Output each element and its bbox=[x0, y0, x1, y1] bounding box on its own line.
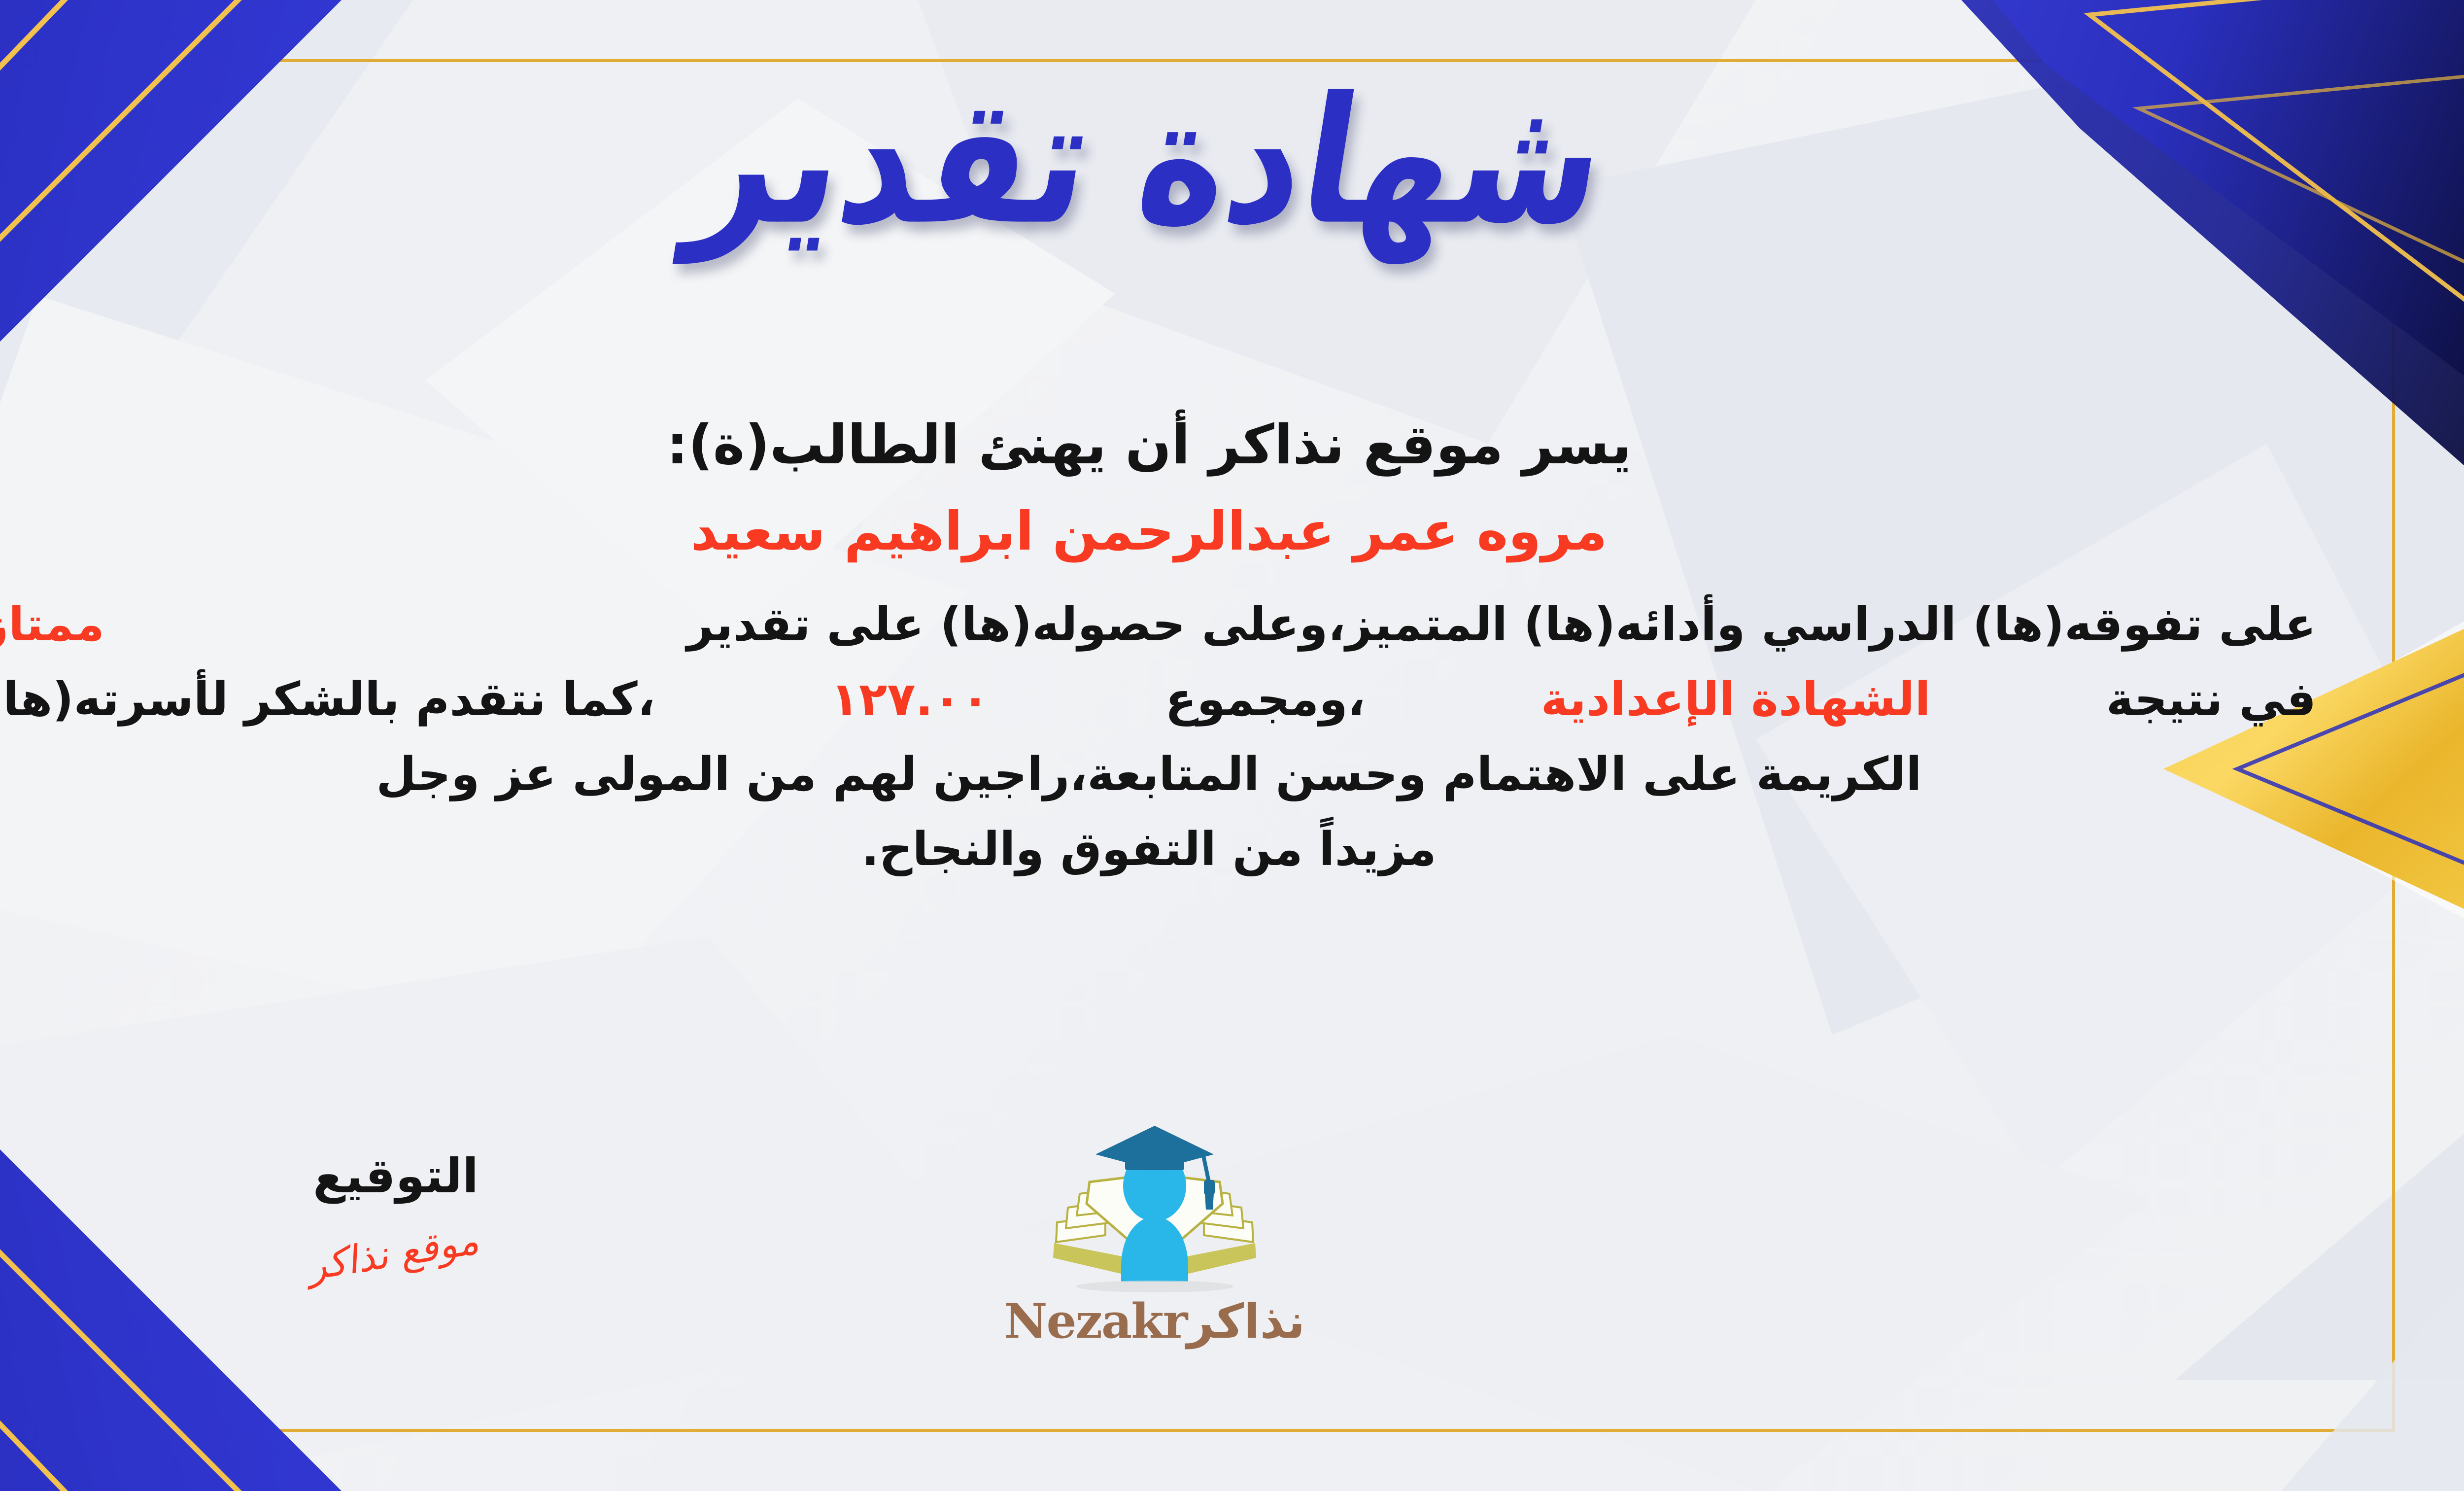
grade-value: ممتاز bbox=[0, 588, 104, 662]
certificate-title: شهادة تقدير bbox=[678, 52, 1620, 271]
body-line-2: في نتيجة الشهادة الإعدادية ،ومجموع ١٢٧.٠… bbox=[0, 662, 2316, 737]
student-name: مروه عمر عبدالرحمن ابراهيم سعيد bbox=[0, 497, 2316, 566]
certificate-canvas: شهادة تقدير يسر موقع نذاكر أن يهنئ الطال… bbox=[0, 0, 2464, 1491]
body-line-3: الكريمة على الاهتمام وحسن المتابعة،راجين… bbox=[0, 737, 2316, 812]
body-line-1-text: على تفوقه(ها) الدراسي وأدائه(ها) المتميز… bbox=[687, 588, 2316, 662]
site-logo: Nezakrنذاكر bbox=[967, 1119, 1342, 1349]
certificate-body: يسر موقع نذاكر أن يهنئ الطالب(ة): مروه ع… bbox=[0, 409, 2316, 888]
body-line-2-suffix: ،كما نتقدم بالشكر لأسرته(ها) bbox=[0, 662, 655, 737]
graduate-book-logo-icon bbox=[1046, 1119, 1263, 1296]
logo-arabic-text: نذاكر bbox=[1187, 1294, 1305, 1349]
exam-name: الشهادة الإعدادية bbox=[1541, 662, 1931, 737]
greeting-line: يسر موقع نذاكر أن يهنئ الطالب(ة): bbox=[0, 409, 2316, 481]
body-line-2-middle: ،ومجموع bbox=[1165, 662, 1365, 737]
logo-latin-text: Nezakr bbox=[1004, 1293, 1187, 1349]
body-paragraph: على تفوقه(ها) الدراسي وأدائه(ها) المتميز… bbox=[0, 588, 2316, 888]
logo-wordmark: Nezakrنذاكر bbox=[967, 1293, 1342, 1349]
body-line-1: على تفوقه(ها) الدراسي وأدائه(ها) المتميز… bbox=[0, 588, 2316, 662]
body-line-2-prefix: في نتيجة bbox=[2106, 662, 2316, 737]
certificate-title-area: شهادة تقدير bbox=[0, 69, 2464, 254]
total-score-value: ١٢٧.٠٠ bbox=[830, 662, 990, 737]
body-line-4: مزيداً من التفوق والنجاح. bbox=[0, 812, 2316, 887]
signature-label: التوقيع bbox=[238, 1148, 553, 1204]
signature-block: التوقيع موقع نذاكر bbox=[238, 1148, 553, 1276]
